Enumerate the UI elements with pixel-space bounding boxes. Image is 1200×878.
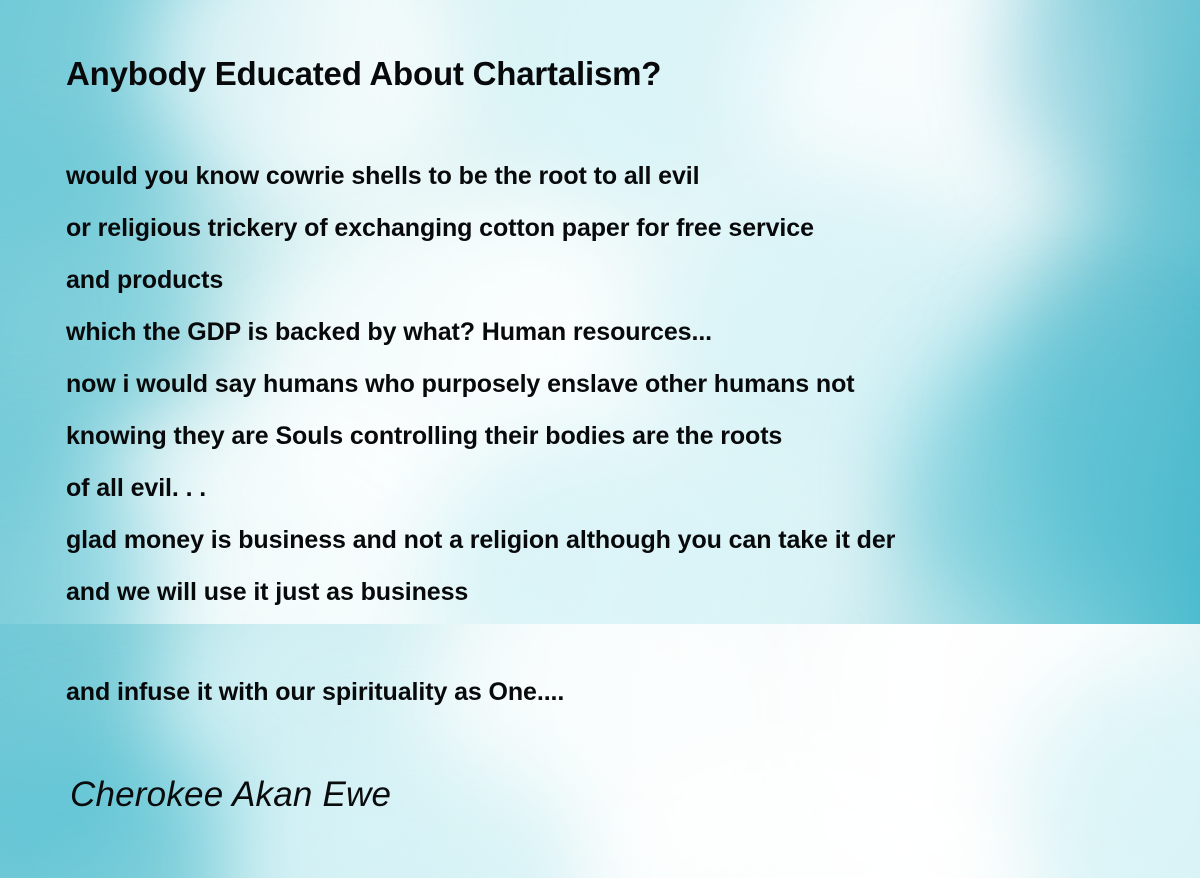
poem-poster: Anybody Educated About Chartalism? would… (0, 0, 1200, 878)
poem-title: Anybody Educated About Chartalism? (66, 55, 661, 93)
poem-line: and we will use it just as business (66, 578, 468, 607)
poem-line: glad money is business and not a religio… (66, 526, 895, 555)
poem-text-layer: Anybody Educated About Chartalism? would… (0, 0, 1200, 878)
poem-line: now i would say humans who purposely ens… (66, 370, 854, 399)
poem-line: which the GDP is backed by what? Human r… (66, 318, 712, 347)
poem-signature: Cherokee Akan Ewe (70, 775, 391, 815)
poem-line: and infuse it with our spirituality as O… (66, 678, 564, 707)
poem-line: of all evil. . . (66, 474, 206, 503)
poem-line: or religious trickery of exchanging cott… (66, 214, 814, 243)
poem-line: and products (66, 266, 223, 295)
poem-line: knowing they are Souls controlling their… (66, 422, 782, 451)
poem-line: would you know cowrie shells to be the r… (66, 162, 699, 191)
